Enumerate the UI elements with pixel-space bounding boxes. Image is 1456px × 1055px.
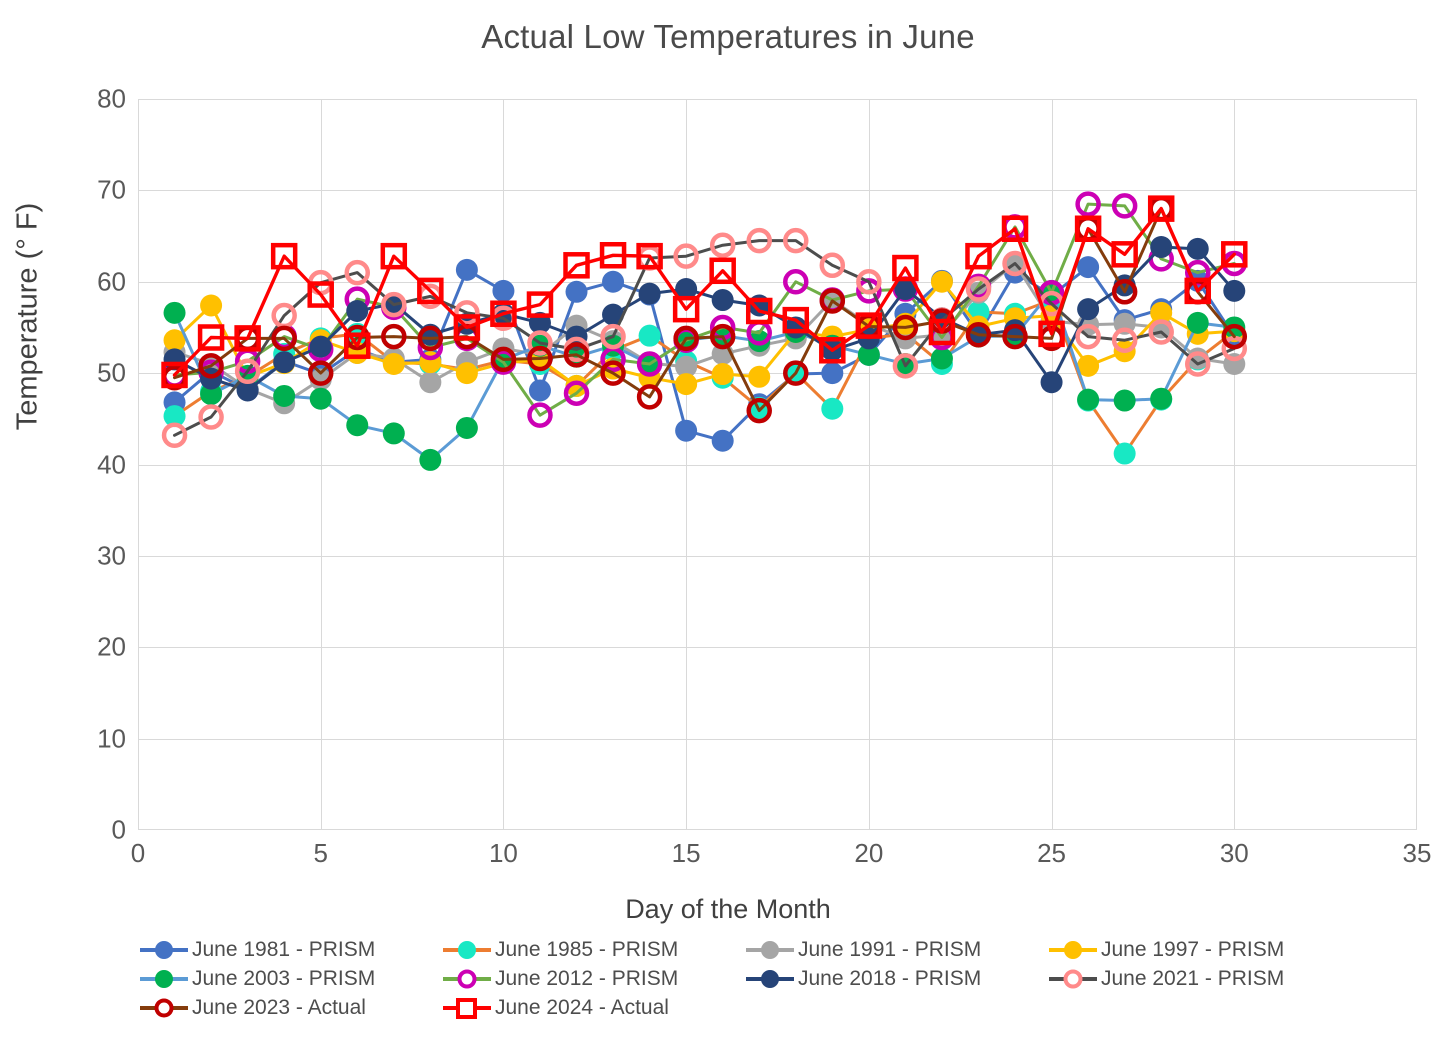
data-point (1114, 443, 1136, 465)
data-point (164, 364, 186, 386)
data-point (273, 245, 295, 267)
legend-marker-icon (441, 966, 493, 992)
legend-row: June 2003 - PRISMJune 2012 - PRISMJune 2… (138, 965, 1418, 993)
legend-item[interactable]: June 2012 - PRISM (441, 966, 744, 992)
legend-marker-icon (1047, 966, 1099, 992)
plot-area (138, 99, 1417, 830)
legend-marker-icon (441, 995, 493, 1021)
x-tick-label: 35 (1403, 838, 1432, 869)
data-point (456, 362, 478, 384)
data-point (1077, 218, 1099, 240)
y-tick-label: 50 (6, 358, 126, 389)
data-point (273, 385, 295, 407)
data-point (712, 260, 734, 282)
data-point (1114, 390, 1136, 412)
data-point (675, 420, 697, 442)
legend-label: June 2018 - PRISM (798, 967, 981, 991)
legend-item[interactable]: June 2021 - PRISM (1047, 966, 1350, 992)
y-tick-label: 10 (6, 723, 126, 754)
data-point (383, 245, 405, 267)
data-point (712, 289, 734, 311)
data-point (1077, 256, 1099, 278)
legend-marker-icon (441, 937, 493, 963)
data-point (1223, 280, 1245, 302)
data-point (931, 321, 953, 343)
y-tick-label: 30 (6, 540, 126, 571)
data-point (602, 244, 624, 266)
data-point (456, 417, 478, 439)
x-axis-label: Day of the Month (0, 894, 1456, 925)
data-point (1187, 312, 1209, 334)
data-point (894, 257, 916, 279)
legend-item[interactable]: June 2018 - PRISM (744, 966, 1047, 992)
data-point (164, 302, 186, 324)
data-point (346, 414, 368, 436)
data-point (821, 339, 843, 361)
legend-item[interactable]: June 1991 - PRISM (744, 937, 1047, 963)
data-point (639, 283, 661, 305)
data-point (383, 422, 405, 444)
x-tick-label: 25 (1037, 838, 1066, 869)
data-point (639, 325, 661, 347)
data-point (383, 353, 405, 375)
legend-label: June 2023 - Actual (192, 996, 366, 1020)
x-tick-label: 20 (854, 838, 883, 869)
data-point (310, 336, 332, 358)
data-point (492, 303, 514, 325)
y-tick-label: 20 (6, 632, 126, 663)
legend-item[interactable]: June 1985 - PRISM (441, 937, 744, 963)
data-point (602, 271, 624, 293)
x-tick-label: 10 (489, 838, 518, 869)
data-point (1077, 389, 1099, 411)
x-tick-label: 15 (672, 838, 701, 869)
data-point (1150, 198, 1172, 220)
data-point (419, 280, 441, 302)
legend-label: June 2024 - Actual (495, 996, 669, 1020)
data-point (821, 398, 843, 420)
x-tick-label: 30 (1220, 838, 1249, 869)
data-point (237, 327, 259, 349)
data-point (310, 388, 332, 410)
chart-title: Actual Low Temperatures in June (0, 18, 1456, 56)
x-tick-label: 0 (131, 838, 145, 869)
legend-label: June 2021 - PRISM (1101, 967, 1284, 991)
legend-row: June 2023 - ActualJune 2024 - Actual (138, 994, 1418, 1022)
legend-label: June 1991 - PRISM (798, 938, 981, 962)
legend-row: June 1981 - PRISMJune 1985 - PRISMJune 1… (138, 936, 1418, 964)
data-point (1004, 218, 1026, 240)
legend-label: June 2003 - PRISM (192, 967, 375, 991)
data-point (346, 300, 368, 322)
data-point (1114, 243, 1136, 265)
data-point (273, 351, 295, 373)
data-point (748, 300, 770, 322)
chart-page: Actual Low Temperatures in June Temperat… (0, 0, 1456, 1055)
data-point (1223, 243, 1245, 265)
data-point (967, 245, 989, 267)
chart-legend: June 1981 - PRISMJune 1985 - PRISMJune 1… (138, 936, 1418, 1023)
legend-item[interactable]: June 2023 - Actual (138, 995, 441, 1021)
x-tick-label: 5 (313, 838, 327, 869)
data-point (931, 271, 953, 293)
data-point (456, 259, 478, 281)
data-point (821, 362, 843, 384)
legend-marker-icon (744, 937, 796, 963)
legend-label: June 1985 - PRISM (495, 938, 678, 962)
data-point (419, 371, 441, 393)
legend-item[interactable]: June 2003 - PRISM (138, 966, 441, 992)
data-point (310, 284, 332, 306)
legend-item[interactable]: June 2024 - Actual (441, 995, 744, 1021)
data-point (1187, 280, 1209, 302)
x-axis-ticks: 05101520253035 (0, 838, 1456, 878)
legend-label: June 1981 - PRISM (192, 938, 375, 962)
y-tick-label: 40 (6, 449, 126, 480)
data-point (1077, 298, 1099, 320)
data-point (529, 379, 551, 401)
data-point (748, 366, 770, 388)
data-point (529, 294, 551, 316)
series-layer (138, 99, 1417, 830)
y-tick-label: 60 (6, 266, 126, 297)
data-point (858, 315, 880, 337)
legend-item[interactable]: June 1997 - PRISM (1047, 937, 1350, 963)
data-point (200, 326, 222, 348)
data-point (675, 373, 697, 395)
legend-marker-icon (138, 937, 190, 963)
y-tick-label: 70 (6, 175, 126, 206)
data-point (675, 298, 697, 320)
data-point (492, 280, 514, 302)
legend-label: June 1997 - PRISM (1101, 938, 1284, 962)
data-point (1150, 388, 1172, 410)
data-point (785, 309, 807, 331)
data-point (419, 449, 441, 471)
data-point (456, 316, 478, 338)
legend-marker-icon (744, 966, 796, 992)
data-point (566, 254, 588, 276)
legend-item[interactable]: June 1981 - PRISM (138, 937, 441, 963)
legend-marker-icon (138, 966, 190, 992)
legend-marker-icon (1047, 937, 1099, 963)
data-point (1041, 323, 1063, 345)
data-point (1150, 236, 1172, 258)
data-point (712, 430, 734, 452)
data-point (346, 335, 368, 357)
data-point (200, 295, 222, 317)
legend-marker-icon (138, 995, 190, 1021)
data-point (639, 245, 661, 267)
data-point (1041, 371, 1063, 393)
data-point (566, 281, 588, 303)
data-point (931, 348, 953, 370)
data-point (712, 363, 734, 385)
legend-label: June 2012 - PRISM (495, 967, 678, 991)
y-tick-label: 80 (6, 84, 126, 115)
data-point (1187, 238, 1209, 260)
